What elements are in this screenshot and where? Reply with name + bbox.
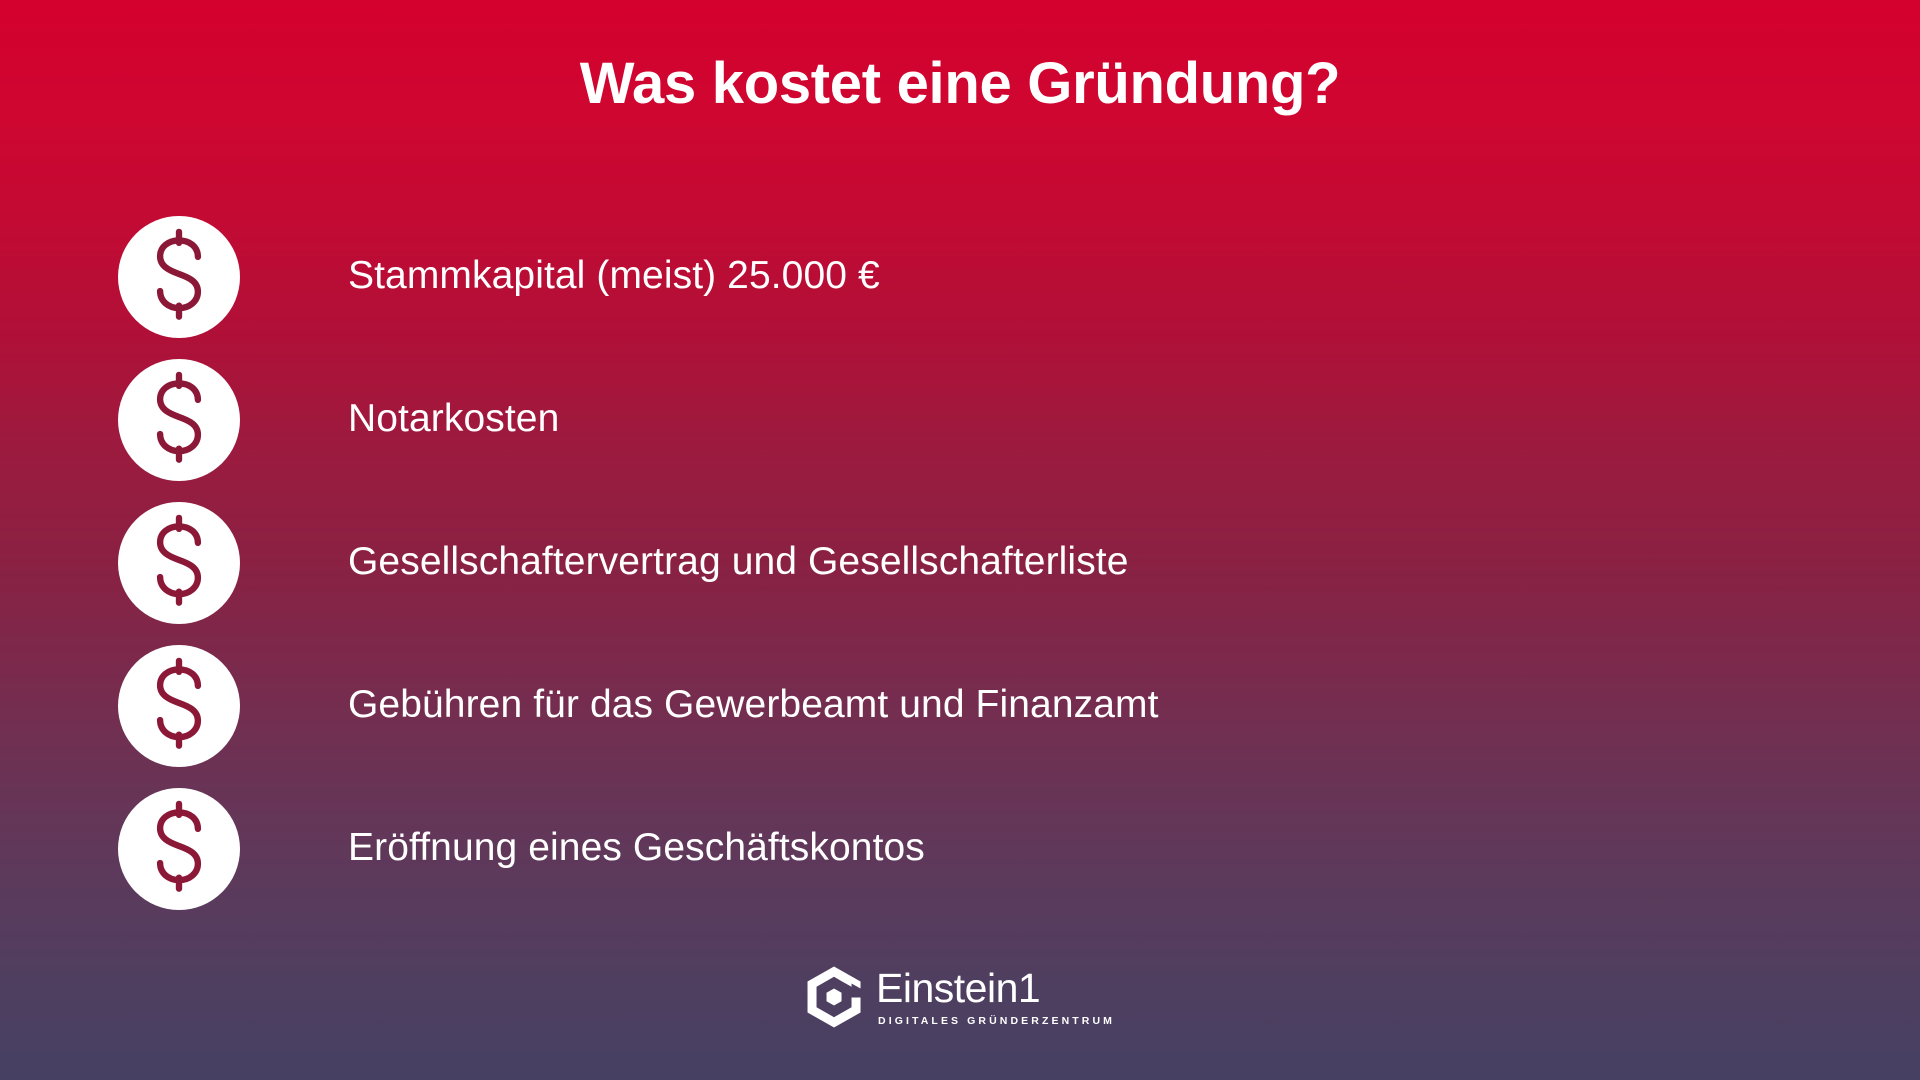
dollar-icon — [118, 502, 240, 624]
brand-logo: Einstein1 DIGITALES GRÜNDERZENTRUM — [805, 966, 1115, 1028]
list-item-label: Eröffnung eines Geschäftskontos — [348, 825, 925, 872]
list-item: Notarkosten — [118, 348, 1818, 491]
list-item: Gesellschaftervertrag und Gesellschafter… — [118, 491, 1818, 634]
dollar-icon — [118, 216, 240, 338]
list-item-label: Gesellschaftervertrag und Gesellschafter… — [348, 539, 1129, 586]
list-item: Gebühren für das Gewerbeamt und Finanzam… — [118, 634, 1818, 777]
list-item-label: Gebühren für das Gewerbeamt und Finanzam… — [348, 682, 1159, 729]
slide-root: Was kostet eine Gründung? Stammkapital (… — [0, 0, 1920, 1080]
einstein1-hexagon-icon — [805, 966, 863, 1028]
cost-list: Stammkapital (meist) 25.000 € Notarkoste… — [118, 205, 1818, 920]
logo-tagline: DIGITALES GRÜNDERZENTRUM — [878, 1016, 1115, 1027]
dollar-icon — [118, 359, 240, 481]
list-item-label: Notarkosten — [348, 396, 559, 443]
list-item-label: Stammkapital (meist) 25.000 € — [348, 253, 880, 300]
logo-name: Einstein1 — [876, 968, 1115, 1009]
page-title: Was kostet eine Gründung? — [0, 52, 1920, 116]
dollar-icon — [118, 788, 240, 910]
dollar-icon — [118, 645, 240, 767]
list-item: Stammkapital (meist) 25.000 € — [118, 205, 1818, 348]
list-item: Eröffnung eines Geschäftskontos — [118, 777, 1818, 920]
